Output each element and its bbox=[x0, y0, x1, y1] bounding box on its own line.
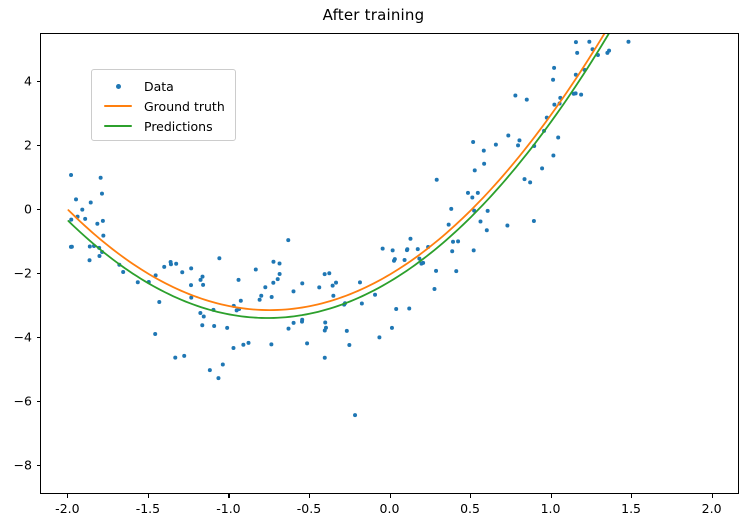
data-point bbox=[101, 234, 105, 238]
data-point bbox=[523, 177, 527, 181]
y-tick-label: 2 bbox=[0, 138, 32, 153]
data-point bbox=[327, 271, 331, 275]
y-tick-label: −2 bbox=[0, 266, 32, 281]
data-point bbox=[231, 346, 235, 350]
data-point bbox=[416, 247, 420, 251]
data-point bbox=[408, 237, 412, 241]
y-tick-mark bbox=[37, 145, 41, 146]
data-point bbox=[189, 283, 193, 287]
y-tick-mark bbox=[37, 337, 41, 338]
data-point bbox=[216, 376, 220, 380]
data-point bbox=[121, 270, 125, 274]
data-point bbox=[323, 356, 327, 360]
x-tick-label: -2.0 bbox=[55, 501, 79, 516]
data-point bbox=[208, 368, 212, 372]
data-point bbox=[287, 327, 291, 331]
data-point bbox=[486, 209, 490, 213]
y-tick-mark bbox=[37, 81, 41, 82]
data-point bbox=[83, 217, 87, 221]
data-point bbox=[432, 287, 436, 291]
data-point bbox=[97, 254, 101, 258]
x-tick-mark bbox=[712, 494, 713, 498]
data-point bbox=[69, 173, 73, 177]
legend-item-ground-truth: Ground truth bbox=[98, 96, 227, 116]
data-point bbox=[476, 191, 480, 195]
data-point bbox=[482, 162, 486, 166]
data-point bbox=[180, 270, 184, 274]
x-tick-label: 2.0 bbox=[702, 501, 722, 516]
data-point bbox=[482, 149, 486, 153]
legend-label-ground-truth: Ground truth bbox=[144, 99, 225, 114]
y-tick-label: −8 bbox=[0, 458, 32, 473]
y-tick-label: 4 bbox=[0, 74, 32, 89]
legend-marker-data-icon bbox=[98, 84, 138, 89]
data-point bbox=[201, 283, 205, 287]
data-point bbox=[360, 302, 364, 306]
data-point bbox=[347, 343, 351, 347]
data-point bbox=[174, 262, 178, 266]
data-point bbox=[271, 281, 275, 285]
data-point bbox=[345, 329, 349, 333]
y-tick-mark bbox=[37, 465, 41, 466]
data-point bbox=[300, 320, 304, 324]
data-point bbox=[153, 332, 157, 336]
data-point bbox=[162, 265, 166, 269]
data-point bbox=[324, 326, 328, 330]
data-point bbox=[331, 284, 335, 288]
data-point bbox=[494, 143, 498, 147]
data-point bbox=[540, 166, 544, 170]
x-tick-mark bbox=[631, 494, 632, 498]
data-point bbox=[449, 207, 453, 211]
data-point bbox=[235, 308, 239, 312]
data-point bbox=[258, 298, 262, 302]
data-point bbox=[70, 245, 74, 249]
data-point bbox=[198, 311, 202, 315]
data-point bbox=[241, 343, 245, 347]
page-title: After training bbox=[0, 6, 747, 24]
data-point bbox=[271, 260, 275, 264]
data-point bbox=[270, 295, 274, 299]
data-point bbox=[305, 341, 309, 345]
data-point bbox=[95, 222, 99, 226]
data-point bbox=[451, 240, 455, 244]
x-tick-mark bbox=[551, 494, 552, 498]
data-point bbox=[551, 153, 555, 157]
y-tick-label: 0 bbox=[0, 202, 32, 217]
y-tick-mark bbox=[37, 209, 41, 210]
data-point bbox=[516, 143, 520, 147]
data-point bbox=[247, 341, 251, 345]
data-point bbox=[405, 248, 409, 252]
data-point bbox=[473, 168, 477, 172]
data-point bbox=[626, 40, 630, 44]
data-point bbox=[456, 239, 460, 243]
data-point bbox=[450, 249, 454, 253]
data-point bbox=[286, 238, 290, 242]
data-point bbox=[278, 272, 282, 276]
x-tick-mark bbox=[470, 494, 471, 498]
data-point bbox=[88, 258, 92, 262]
data-point bbox=[435, 178, 439, 182]
data-point bbox=[552, 66, 556, 70]
data-point bbox=[157, 300, 161, 304]
data-point bbox=[239, 299, 243, 303]
data-point bbox=[237, 278, 241, 282]
data-point bbox=[472, 248, 476, 252]
data-point bbox=[169, 262, 173, 266]
y-tick-mark bbox=[37, 273, 41, 274]
data-point bbox=[173, 356, 177, 360]
x-tick-label: 1.0 bbox=[541, 501, 561, 516]
x-tick-mark bbox=[309, 494, 310, 498]
data-point bbox=[373, 293, 377, 297]
data-point bbox=[478, 220, 482, 224]
data-point bbox=[101, 219, 105, 223]
data-point bbox=[392, 259, 396, 263]
data-point bbox=[485, 228, 489, 232]
y-tick-mark bbox=[37, 401, 41, 402]
data-point bbox=[254, 268, 258, 272]
data-point bbox=[74, 197, 78, 201]
data-point bbox=[353, 413, 357, 417]
data-point bbox=[88, 245, 92, 249]
data-point bbox=[434, 269, 438, 273]
x-tick-label: 0.5 bbox=[460, 501, 480, 516]
data-point bbox=[292, 289, 296, 293]
y-tick-label: −6 bbox=[0, 394, 32, 409]
data-point bbox=[323, 320, 327, 324]
data-point bbox=[505, 224, 509, 228]
matplotlib-figure: After training Data Ground truth bbox=[0, 0, 747, 528]
data-point bbox=[202, 314, 206, 318]
data-point bbox=[607, 49, 611, 53]
data-point bbox=[269, 342, 273, 346]
data-point bbox=[381, 247, 385, 251]
y-tick-label: −4 bbox=[0, 330, 32, 345]
data-point bbox=[513, 93, 517, 97]
data-point bbox=[551, 78, 555, 82]
legend-box: Data Ground truth Predictions bbox=[91, 69, 236, 141]
data-point bbox=[99, 176, 103, 180]
data-point bbox=[552, 103, 556, 107]
data-point bbox=[394, 307, 398, 311]
data-point bbox=[300, 281, 304, 285]
x-tick-label: -0.5 bbox=[297, 501, 321, 516]
legend-label-data: Data bbox=[144, 79, 174, 94]
data-point bbox=[217, 256, 221, 260]
data-point bbox=[407, 306, 411, 310]
data-point bbox=[263, 285, 267, 289]
data-point bbox=[259, 294, 263, 298]
data-point bbox=[189, 266, 193, 270]
data-point bbox=[528, 180, 532, 184]
x-tick-label: 1.5 bbox=[621, 501, 641, 516]
x-tick-label: -1.0 bbox=[216, 501, 240, 516]
data-point bbox=[575, 51, 579, 55]
data-point bbox=[377, 335, 381, 339]
data-point bbox=[447, 223, 451, 227]
data-point bbox=[225, 326, 229, 330]
data-point bbox=[136, 280, 140, 284]
legend-item-predictions: Predictions bbox=[98, 116, 227, 136]
data-point bbox=[466, 191, 470, 195]
data-point bbox=[574, 40, 578, 44]
data-point bbox=[390, 326, 394, 330]
data-point bbox=[403, 258, 407, 262]
legend-line-predictions-icon bbox=[98, 125, 138, 127]
x-tick-mark bbox=[148, 494, 149, 498]
data-point bbox=[587, 40, 591, 44]
data-point bbox=[471, 140, 475, 144]
data-point bbox=[212, 324, 216, 328]
data-point bbox=[323, 272, 327, 276]
data-point bbox=[579, 93, 583, 97]
data-point bbox=[317, 285, 321, 289]
data-point bbox=[201, 275, 205, 279]
data-point bbox=[276, 277, 280, 281]
data-point bbox=[89, 200, 93, 204]
data-point bbox=[358, 280, 362, 284]
data-point bbox=[454, 269, 458, 273]
data-point bbox=[532, 219, 536, 223]
legend-label-predictions: Predictions bbox=[144, 119, 213, 134]
data-point bbox=[292, 321, 296, 325]
data-point bbox=[391, 248, 395, 252]
data-point bbox=[80, 208, 84, 212]
data-point bbox=[506, 133, 510, 137]
data-point bbox=[470, 195, 474, 199]
legend-item-data: Data bbox=[98, 76, 227, 96]
data-point bbox=[517, 138, 521, 142]
data-point bbox=[69, 218, 73, 222]
data-point bbox=[221, 363, 225, 367]
data-point bbox=[278, 262, 282, 266]
data-point bbox=[556, 136, 560, 140]
data-point bbox=[525, 98, 529, 102]
data-point bbox=[331, 294, 335, 298]
data-point bbox=[100, 192, 104, 196]
legend-line-ground-truth-icon bbox=[98, 105, 138, 107]
x-tick-label: 0.0 bbox=[380, 501, 400, 516]
plot-axes: Data Ground truth Predictions bbox=[40, 33, 739, 494]
x-tick-mark bbox=[228, 494, 229, 498]
data-point bbox=[200, 323, 204, 327]
data-point bbox=[182, 354, 186, 358]
x-tick-label: -1.5 bbox=[136, 501, 160, 516]
x-tick-mark bbox=[390, 494, 391, 498]
x-tick-mark bbox=[67, 494, 68, 498]
data-point bbox=[334, 281, 338, 285]
